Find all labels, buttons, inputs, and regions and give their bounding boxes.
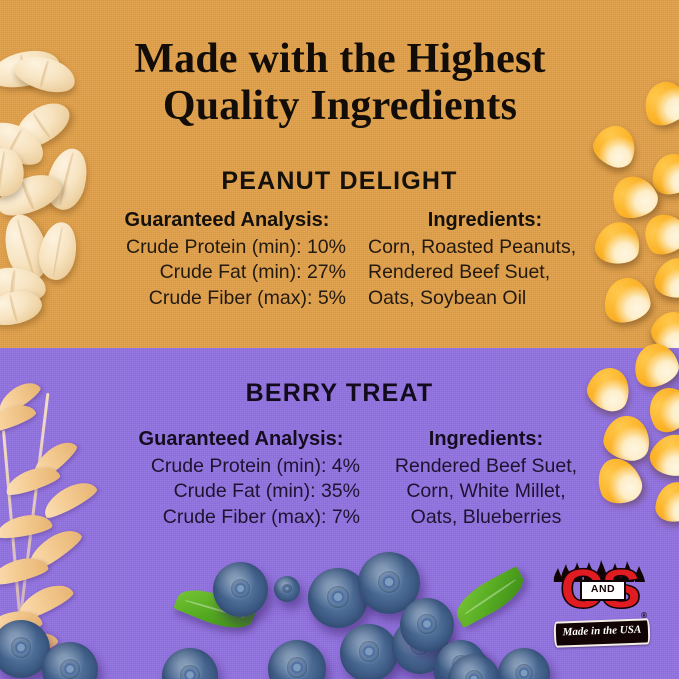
berry-ingredients: Ingredients: Rendered Beef Suet, Corn, W…: [374, 428, 598, 530]
berry-ingredients-heading: Ingredients:: [374, 428, 598, 451]
peanut-ingredients-line-3: Oats, Soybean Oil: [368, 286, 602, 311]
berry-ingredients-line-3: Oats, Blueberries: [374, 505, 598, 530]
product-label-graphic: Made with the Highest Quality Ingredient…: [0, 0, 679, 679]
berry-guaranteed-analysis: Guaranteed Analysis: Crude Protein (min)…: [122, 428, 360, 530]
logo-mark: CS AND ®: [552, 556, 648, 626]
made-in-usa-text: Made in the USA: [556, 620, 649, 645]
peanut-ingredients-line-1: Corn, Roasted Peanuts,: [368, 235, 602, 260]
berry-analysis-line-1: Crude Protein (min): 4%: [122, 454, 360, 479]
page-headline: Made with the Highest Quality Ingredient…: [90, 36, 590, 130]
berry-analysis-body: Crude Protein (min): 4% Crude Fat (min):…: [122, 454, 360, 530]
peanut-analysis-body: Crude Protein (min): 10% Crude Fat (min)…: [108, 235, 346, 311]
berry-ingredients-line-1: Rendered Beef Suet,: [374, 454, 598, 479]
berry-analysis-heading: Guaranteed Analysis:: [122, 428, 360, 451]
logo-and-badge: AND: [580, 580, 626, 601]
peanut-ingredients-body: Corn, Roasted Peanuts, Rendered Beef Sue…: [368, 235, 602, 311]
berry-analysis-line-2: Crude Fat (min): 35%: [122, 479, 360, 504]
product-title-berry-treat: BERRY TREAT: [0, 379, 679, 408]
peanut-ingredients-heading: Ingredients:: [368, 209, 602, 232]
brand-logo: CS AND ® Made in the USA: [552, 556, 648, 652]
product-title-peanut-delight: PEANUT DELIGHT: [0, 167, 679, 196]
peanut-ingredients: Ingredients: Corn, Roasted Peanuts, Rend…: [368, 209, 602, 311]
berry-ingredients-body: Rendered Beef Suet, Corn, White Millet, …: [374, 454, 598, 530]
peanut-guaranteed-analysis: Guaranteed Analysis: Crude Protein (min)…: [108, 209, 346, 311]
berry-analysis-line-3: Crude Fiber (max): 7%: [122, 505, 360, 530]
headline-line-2: Quality Ingredients: [90, 83, 590, 130]
peanut-ingredients-line-2: Rendered Beef Suet,: [368, 260, 602, 285]
headline-line-1: Made with the Highest: [90, 36, 590, 83]
berry-ingredients-line-2: Corn, White Millet,: [374, 479, 598, 504]
peanut-analysis-heading: Guaranteed Analysis:: [108, 209, 346, 232]
peanut-analysis-line-1: Crude Protein (min): 10%: [108, 235, 346, 260]
made-in-usa-banner: Made in the USA: [554, 618, 651, 647]
peanut-analysis-line-3: Crude Fiber (max): 5%: [108, 286, 346, 311]
peanut-analysis-line-2: Crude Fat (min): 27%: [108, 260, 346, 285]
